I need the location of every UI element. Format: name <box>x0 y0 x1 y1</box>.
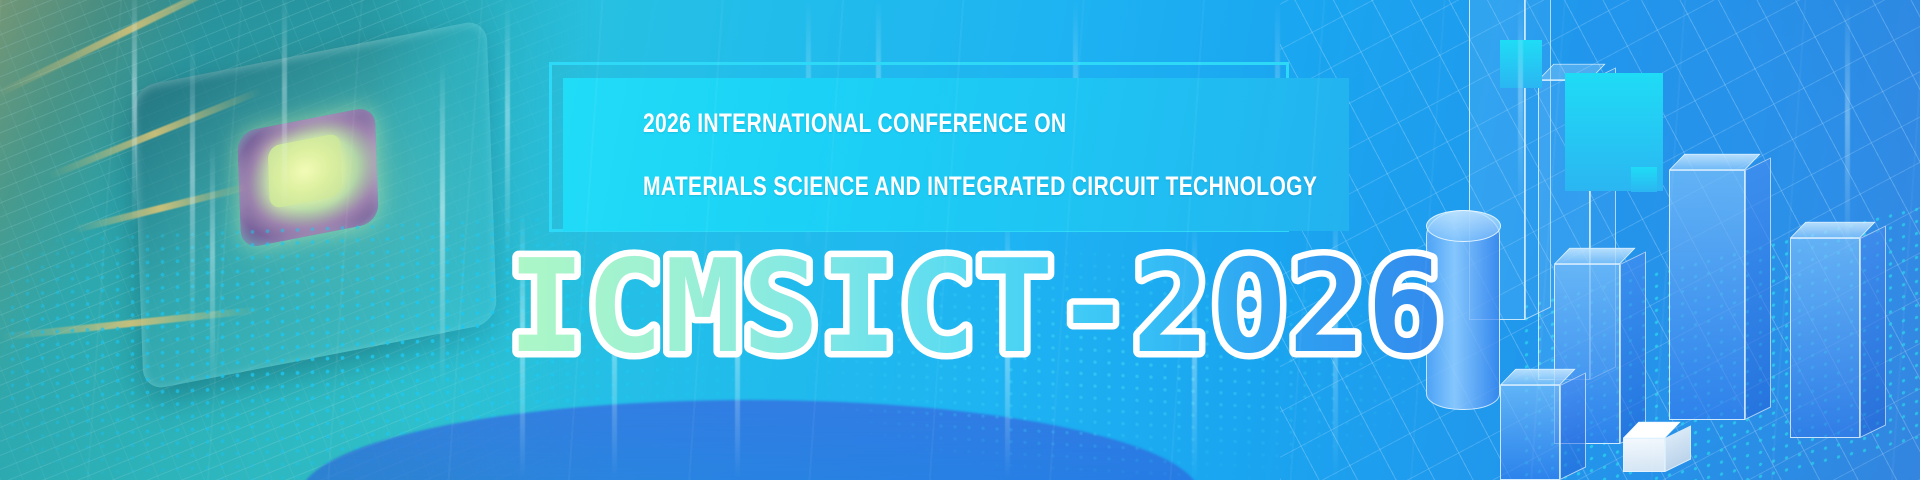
accent-square-tiny <box>1631 167 1657 192</box>
bar-solid-tall-face-s <box>1745 157 1771 420</box>
bar-solid-right-face-f <box>1790 238 1860 438</box>
accent-square-small <box>1500 40 1542 88</box>
bar-solid-tall-face-f <box>1669 170 1745 420</box>
title-box-text: 2026 INTERNATIONAL CONFERENCE ON MATERIA… <box>563 78 1349 231</box>
bar-solid-tall <box>1669 170 1745 420</box>
bar-solid-short <box>1500 385 1560 480</box>
bar-solid-short-face-f <box>1500 385 1560 480</box>
bar-white-small-face-f <box>1623 438 1665 472</box>
conference-line-2: MATERIALS SCIENCE AND INTEGRATED CIRCUIT… <box>643 173 1194 200</box>
wordmark-svg: ICMSICT-2026 ICMSICT-2026 <box>508 243 1398 378</box>
conference-line-1: 2026 INTERNATIONAL CONFERENCE ON <box>643 110 1194 137</box>
conference-title-box: 2026 INTERNATIONAL CONFERENCE ON MATERIA… <box>549 62 1349 232</box>
bar-solid-right-face-s <box>1860 225 1886 438</box>
wordmark-fill: ICMSICT-2026 <box>508 233 1445 382</box>
bar-solid-mid-1-face-s <box>1620 251 1646 444</box>
bar-solid-tall-face-t <box>1669 154 1761 170</box>
conference-wordmark: ICMSICT-2026 ICMSICT-2026 <box>508 243 1398 378</box>
bar-white-small <box>1623 438 1665 472</box>
bar-solid-short-face-s <box>1560 372 1586 480</box>
bar-solid-right <box>1790 238 1860 438</box>
conference-banner: 2026 INTERNATIONAL CONFERENCE ON MATERIA… <box>0 0 1920 480</box>
